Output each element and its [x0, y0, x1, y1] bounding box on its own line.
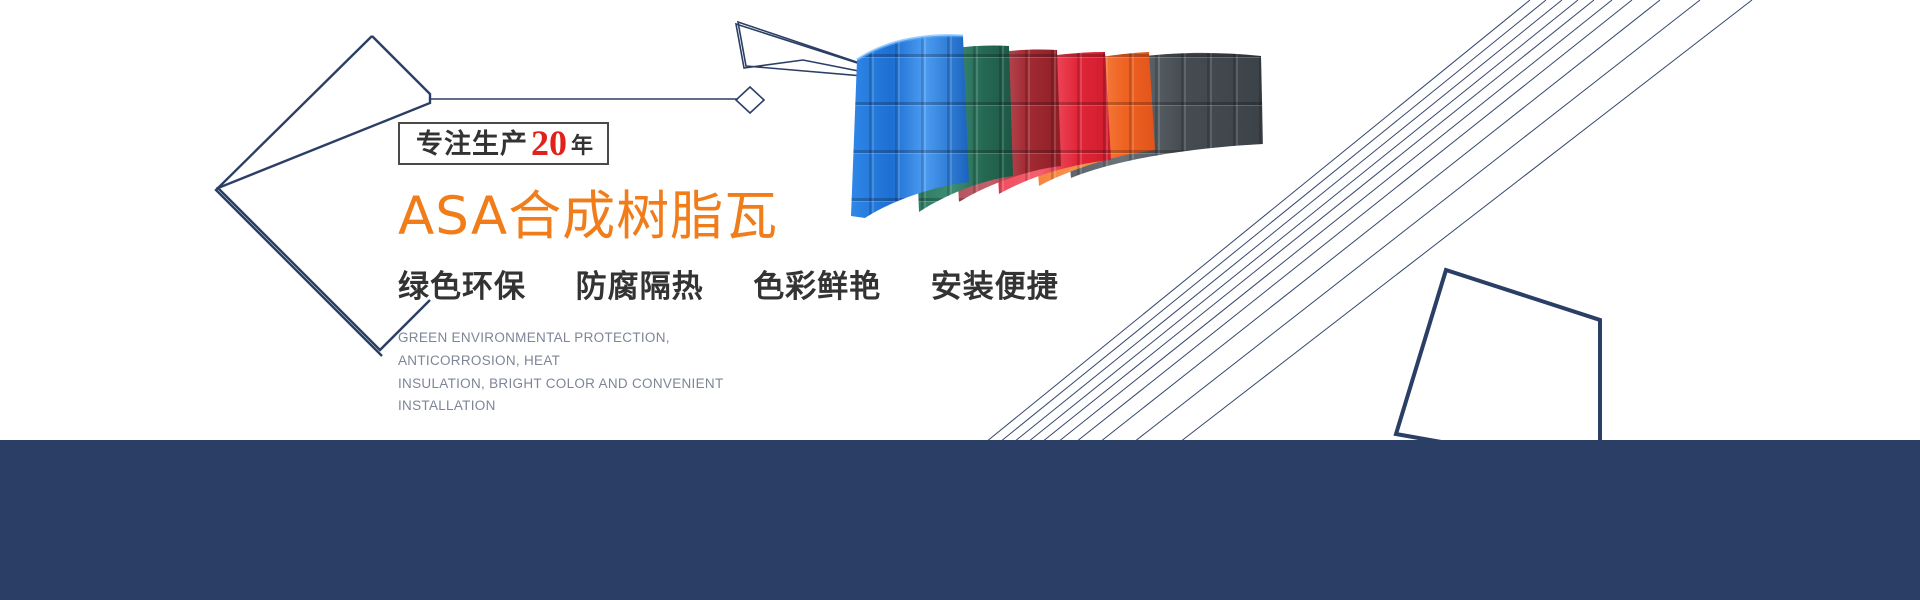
page-title: ASA合成树脂瓦 [398, 189, 1098, 245]
experience-badge: 专注生产 20 年 [398, 122, 609, 165]
bottom-bar [0, 440, 1920, 600]
badge-years-unit: 年 [571, 136, 593, 158]
badge-prefix-label: 专注生产 [416, 131, 528, 158]
badge-years-number: 20 [531, 129, 567, 158]
feature-item-3: 色彩鲜艳 [753, 269, 881, 305]
feature-item-1: 绿色环保 [398, 269, 526, 305]
english-line-1: GREEN ENVIRONMENTAL PROTECTION, ANTICORR… [398, 327, 758, 373]
small-diamond-decoration [736, 87, 764, 113]
feature-item-2: 防腐隔热 [576, 269, 704, 305]
feature-list: 绿色环保 防腐隔热 色彩鲜艳 安装便捷 [398, 261, 1098, 306]
english-subtitle: GREEN ENVIRONMENTAL PROTECTION, ANTICORR… [398, 327, 758, 419]
feature-item-4: 安装便捷 [931, 269, 1059, 305]
text-content-block: 专注生产 20 年 ASA合成树脂瓦 绿色环保 防腐隔热 色彩鲜艳 安装便捷 G… [398, 122, 1098, 418]
banner-root: 专注生产 20 年 ASA合成树脂瓦 绿色环保 防腐隔热 色彩鲜艳 安装便捷 G… [0, 0, 1920, 600]
diamond-outline-decoration-left [216, 36, 382, 356]
english-line-2: INSULATION, BRIGHT COLOR AND CONVENIENT … [398, 373, 758, 419]
